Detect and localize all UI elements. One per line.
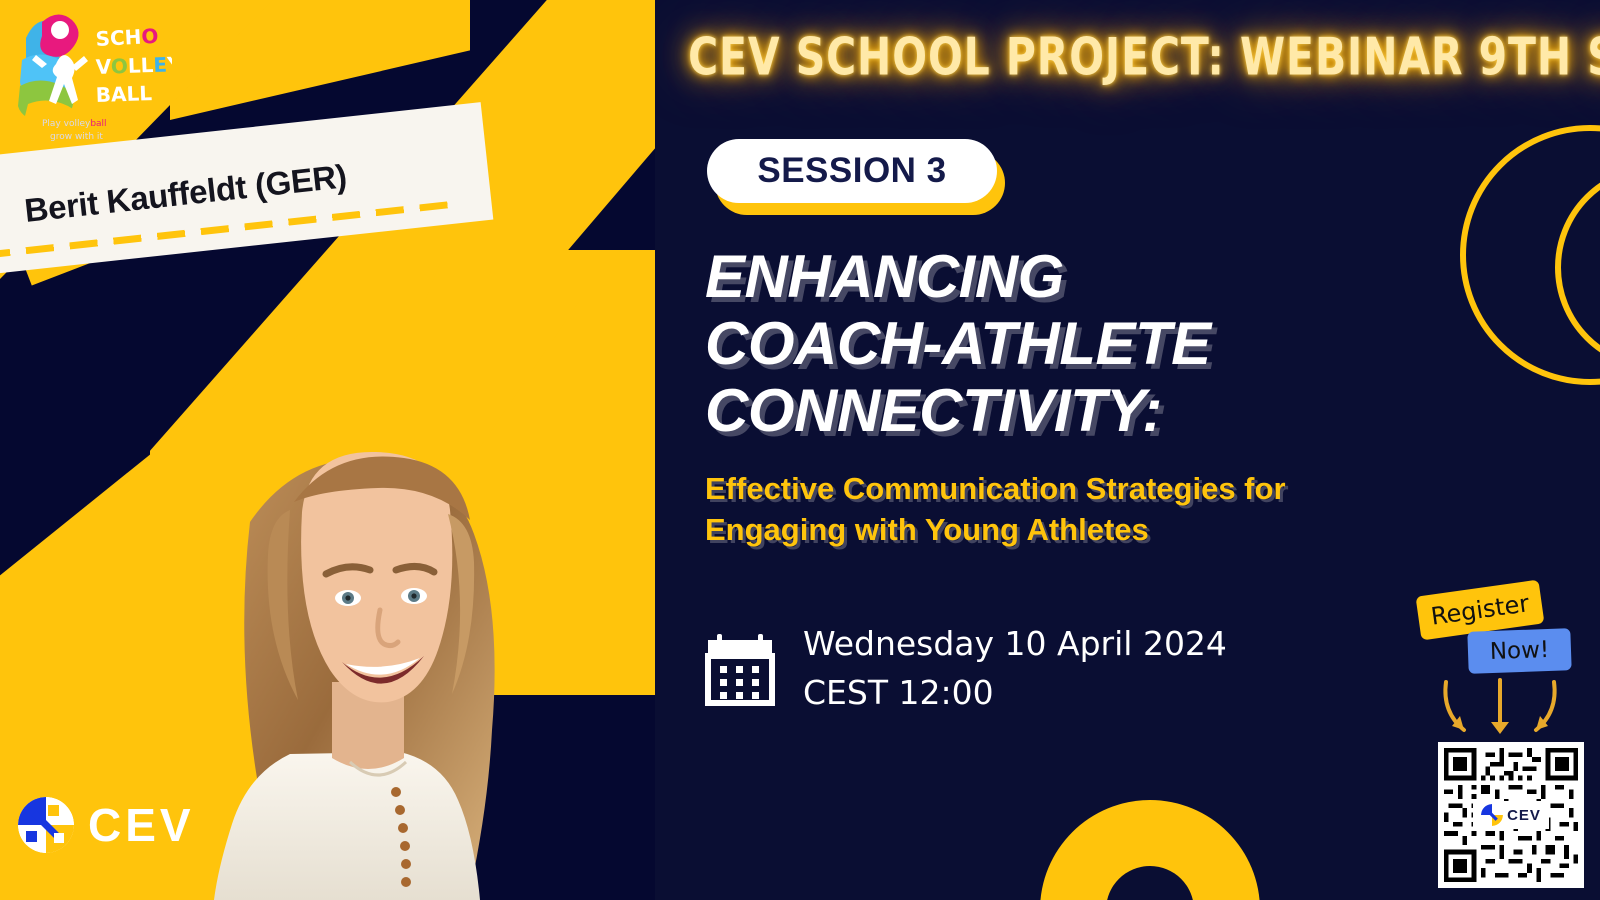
- cev-wordmark: CEV: [88, 802, 195, 848]
- right-panel: CEV SCHOOL PROJECT: WEBINAR 9TH SERIES S…: [655, 0, 1600, 900]
- calendar-icon: [705, 632, 775, 706]
- datetime-text: Wednesday 10 April 2024 CEST 12:00: [803, 620, 1227, 718]
- event-datetime: Wednesday 10 April 2024 CEST 12:00: [705, 620, 1227, 718]
- cev-logo: CEV: [18, 790, 188, 860]
- register-tag-label: Register: [1429, 589, 1531, 630]
- school-volleyball-logo: SCHOOL VOLLEY BALL Play volleyball grow …: [12, 8, 172, 148]
- cev-mark-icon: [18, 797, 74, 853]
- page-title: ENHANCING COACH-ATHLETE CONNECTIVITY:: [705, 243, 1345, 445]
- left-panel: SCHOOL VOLLEY BALL Play volleyball grow …: [0, 0, 655, 900]
- svg-text:VOLLEY: VOLLEY: [95, 52, 172, 79]
- svg-text:SCHOOL: SCHOOL: [95, 22, 172, 51]
- svg-text:Play volleyball: Play volleyball: [42, 119, 107, 129]
- event-date: Wednesday 10 April 2024: [803, 620, 1227, 669]
- speaker-photo: [190, 362, 540, 900]
- qr-center-logo: CEV: [1473, 801, 1549, 829]
- qr-code[interactable]: CEV: [1438, 742, 1584, 888]
- svg-text:BALL: BALL: [95, 81, 152, 107]
- cev-mark-icon-small: [1481, 804, 1503, 826]
- session-badge: SESSION 3: [707, 139, 1007, 215]
- neon-header: CEV SCHOOL PROJECT: WEBINAR 9TH SERIES: [688, 32, 1567, 84]
- event-time: CEST 12:00: [803, 669, 1227, 718]
- page-subtitle: Effective Communication Strategies for E…: [705, 468, 1405, 550]
- title-line-2: COACH-ATHLETE: [705, 310, 1345, 377]
- now-tag-label: Now!: [1489, 637, 1549, 665]
- title-line-1: ENHANCING: [705, 243, 1345, 310]
- session-badge-label: SESSION 3: [757, 151, 946, 191]
- subtitle-line-2: Engaging with Young Athletes: [705, 509, 1405, 550]
- session-badge-body: SESSION 3: [707, 139, 997, 203]
- down-arrows-icon: [1430, 678, 1570, 738]
- decorative-donut: [1040, 800, 1260, 900]
- subtitle-line-1: Effective Communication Strategies for: [705, 468, 1405, 509]
- qr-center-wordmark: CEV: [1507, 807, 1541, 824]
- title-line-3: CONNECTIVITY:: [705, 377, 1345, 444]
- webinar-poster: SCHOOL VOLLEY BALL Play volleyball grow …: [0, 0, 1600, 900]
- svg-text:grow with it: grow with it: [50, 132, 103, 142]
- now-tag[interactable]: Now!: [1467, 628, 1571, 674]
